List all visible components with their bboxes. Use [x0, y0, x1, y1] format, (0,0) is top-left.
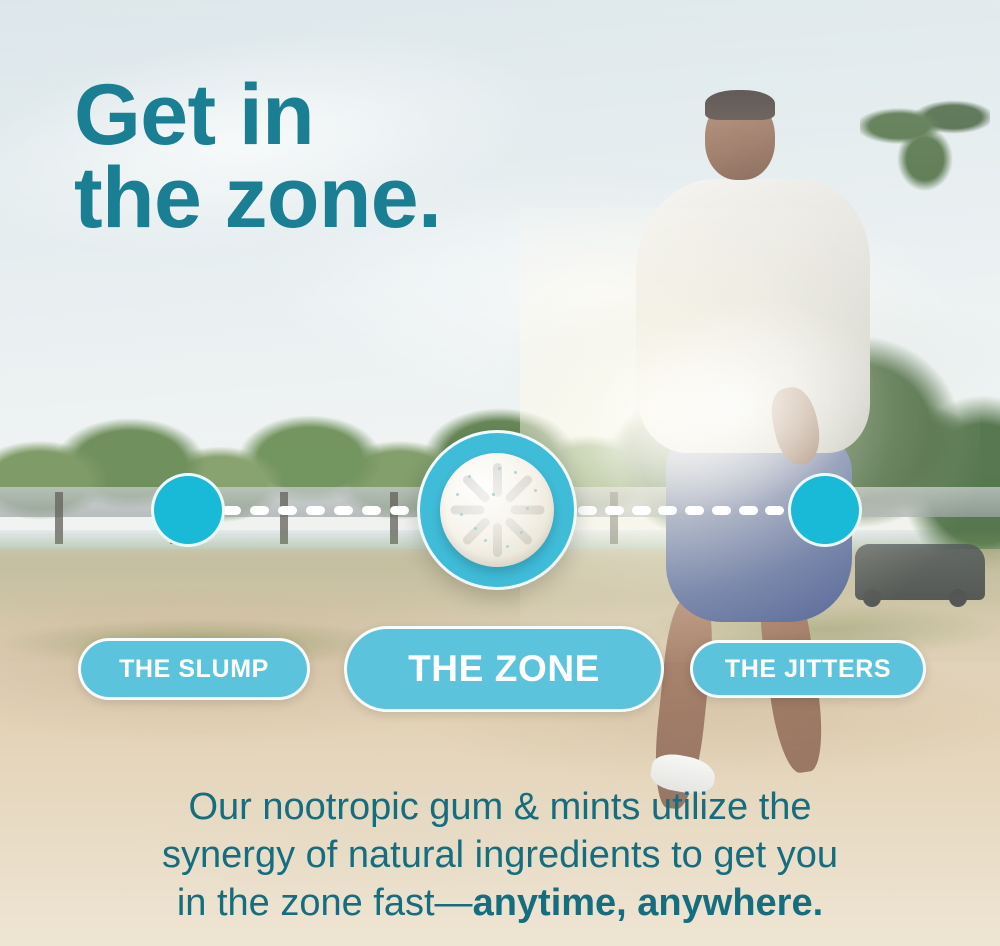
label-pill-zone[interactable]: THE ZONE: [344, 626, 664, 712]
runner-shirt: [636, 179, 870, 454]
label-pill-jitters[interactable]: THE JITTERS: [690, 640, 926, 698]
subcopy-line-3-normal: in the zone fast—: [177, 882, 473, 924]
ad-banner: Get in the zone. THE SLUMP THE ZONE THE …: [0, 0, 1000, 946]
runner-hair: [705, 90, 775, 120]
runner-photo-subject: [600, 80, 900, 865]
subcopy-line-2: synergy of natural ingredients to get yo…: [0, 832, 1000, 880]
subcopy-line-1: Our nootropic gum & mints utilize the: [0, 784, 1000, 832]
runner-shorts: [666, 434, 852, 622]
subcopy-line-3-bold: anytime, anywhere.: [473, 882, 824, 924]
label-pill-slump[interactable]: THE SLUMP: [78, 638, 310, 700]
subcopy-line-3: in the zone fast—anytime, anywhere.: [0, 880, 1000, 928]
subcopy-paragraph: Our nootropic gum & mints utilize the sy…: [0, 784, 1000, 928]
page-title: Get in the zone.: [74, 74, 441, 239]
